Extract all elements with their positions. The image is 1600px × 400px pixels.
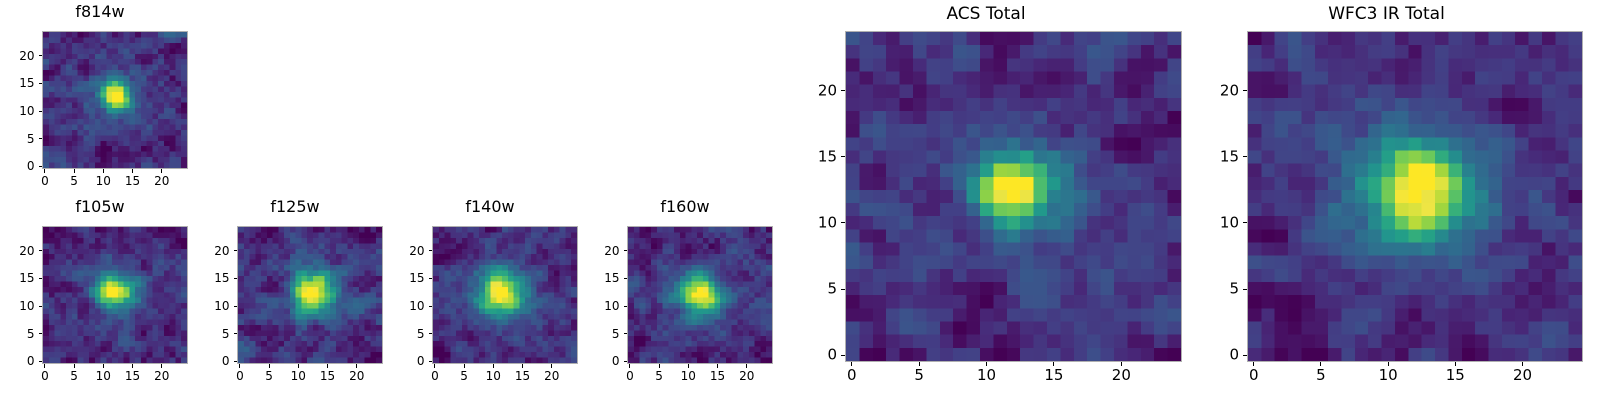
ytick-f105w-15 (39, 278, 43, 279)
ytick-f814w-15 (39, 83, 43, 84)
ytick-label-f814w-10: 10 (0, 105, 35, 117)
xtick-label-wfc3_ir_total-20: 20 (1513, 368, 1532, 383)
heatmap-f814w[interactable] (42, 31, 188, 169)
xtick-label-f160w-20: 20 (739, 370, 754, 382)
xtick-f140w-10 (493, 364, 494, 368)
heatmap-canvas-acs_total (846, 32, 1181, 361)
ytick-f125w-5 (234, 333, 238, 334)
xtick-f160w-15 (717, 364, 718, 368)
xtick-label-f105w-15: 15 (125, 370, 140, 382)
panel-f105w: f105w 0055101015152020 (0, 195, 200, 380)
ytick-label-f125w-5: 5 (190, 328, 230, 340)
panel-title-f160w: f160w (585, 199, 785, 215)
xtick-f105w-15 (132, 364, 133, 368)
ytick-f105w-20 (39, 250, 43, 251)
ytick-label-f160w-5: 5 (580, 328, 620, 340)
xtick-label-wfc3_ir_total-5: 5 (1316, 368, 1326, 383)
xtick-label-f814w-0: 0 (41, 175, 49, 187)
heatmap-canvas-f814w (43, 32, 187, 168)
xtick-f814w-20 (161, 169, 162, 173)
ytick-label-f105w-5: 5 (0, 328, 35, 340)
ytick-label-acs_total-5: 5 (797, 282, 837, 297)
ytick-f160w-5 (624, 333, 628, 334)
heatmap-canvas-f105w (43, 227, 187, 363)
xtick-f105w-0 (44, 364, 45, 368)
ytick-acs_total-0 (841, 355, 845, 356)
xtick-f105w-20 (161, 364, 162, 368)
panel-title-f125w: f125w (195, 199, 395, 215)
ytick-wfc3_ir_total-0 (1243, 355, 1247, 356)
heatmap-wfc3-ir-total[interactable] (1247, 31, 1583, 362)
heatmap-f105w[interactable] (42, 226, 188, 364)
xtick-label-f140w-20: 20 (544, 370, 559, 382)
xtick-f125w-5 (269, 364, 270, 368)
ytick-f125w-10 (234, 306, 238, 307)
heatmap-f125w[interactable] (237, 226, 383, 364)
xtick-label-f105w-0: 0 (41, 370, 49, 382)
heatmap-canvas-wfc3_ir_total (1248, 32, 1582, 361)
xtick-label-acs_total-10: 10 (977, 368, 996, 383)
xtick-label-f125w-20: 20 (349, 370, 364, 382)
xtick-label-f140w-5: 5 (460, 370, 468, 382)
heatmap-canvas-f125w (238, 227, 382, 363)
ytick-f140w-20 (429, 250, 433, 251)
xtick-label-f125w-0: 0 (236, 370, 244, 382)
ytick-f105w-0 (39, 361, 43, 362)
xtick-f160w-5 (659, 364, 660, 368)
ytick-wfc3_ir_total-20 (1243, 90, 1247, 91)
xtick-label-acs_total-0: 0 (847, 368, 857, 383)
ytick-f160w-20 (624, 250, 628, 251)
xtick-f125w-15 (327, 364, 328, 368)
ytick-label-acs_total-10: 10 (797, 215, 837, 230)
xtick-label-f105w-10: 10 (96, 370, 111, 382)
ytick-label-wfc3_ir_total-15: 15 (1199, 149, 1239, 164)
ytick-f125w-15 (234, 278, 238, 279)
ytick-label-f125w-20: 20 (190, 245, 230, 257)
ytick-acs_total-5 (841, 289, 845, 290)
panel-title-wfc3-ir-total: WFC3 IR Total (1190, 6, 1583, 23)
ytick-label-wfc3_ir_total-5: 5 (1199, 282, 1239, 297)
xtick-label-f140w-0: 0 (431, 370, 439, 382)
ytick-label-f814w-0: 0 (0, 160, 35, 172)
panel-title-acs-total: ACS Total (790, 6, 1182, 23)
xtick-label-acs_total-5: 5 (914, 368, 924, 383)
ytick-label-wfc3_ir_total-0: 0 (1199, 348, 1239, 363)
xtick-label-f105w-5: 5 (70, 370, 78, 382)
ytick-wfc3_ir_total-15 (1243, 156, 1247, 157)
ytick-label-f160w-20: 20 (580, 245, 620, 257)
ytick-f105w-5 (39, 333, 43, 334)
xtick-f125w-10 (298, 364, 299, 368)
ytick-label-f160w-15: 15 (580, 272, 620, 284)
ytick-wfc3_ir_total-5 (1243, 289, 1247, 290)
ytick-label-f140w-15: 15 (385, 272, 425, 284)
ytick-label-acs_total-0: 0 (797, 348, 837, 363)
ytick-acs_total-20 (841, 90, 845, 91)
xtick-f105w-10 (103, 364, 104, 368)
xtick-label-f140w-10: 10 (486, 370, 501, 382)
heatmap-f160w[interactable] (627, 226, 773, 364)
xtick-f125w-20 (356, 364, 357, 368)
ytick-label-f814w-5: 5 (0, 133, 35, 145)
ytick-label-f160w-10: 10 (580, 300, 620, 312)
ytick-label-wfc3_ir_total-20: 20 (1199, 83, 1239, 98)
xtick-label-acs_total-15: 15 (1044, 368, 1063, 383)
ytick-label-f814w-15: 15 (0, 77, 35, 89)
xtick-f160w-0 (629, 364, 630, 368)
xtick-f140w-20 (551, 364, 552, 368)
ytick-f814w-20 (39, 55, 43, 56)
ytick-f160w-15 (624, 278, 628, 279)
ytick-f140w-15 (429, 278, 433, 279)
xtick-label-f140w-15: 15 (515, 370, 530, 382)
xtick-f140w-0 (434, 364, 435, 368)
xtick-f814w-0 (44, 169, 45, 173)
xtick-label-f125w-15: 15 (320, 370, 335, 382)
ytick-label-acs_total-15: 15 (797, 149, 837, 164)
panel-f814w: f814w 0055101015152020 (0, 0, 200, 185)
ytick-f160w-10 (624, 306, 628, 307)
xtick-label-f160w-15: 15 (710, 370, 725, 382)
panel-wfc3-ir-total: WFC3 IR Total 0055101015152020 (1190, 0, 1600, 400)
ytick-f814w-0 (39, 166, 43, 167)
xtick-f140w-5 (464, 364, 465, 368)
ytick-label-f105w-10: 10 (0, 300, 35, 312)
xtick-label-f814w-5: 5 (70, 175, 78, 187)
ytick-label-f125w-0: 0 (190, 355, 230, 367)
xtick-label-f125w-5: 5 (265, 370, 273, 382)
ytick-label-f140w-10: 10 (385, 300, 425, 312)
ytick-label-f814w-20: 20 (0, 50, 35, 62)
xtick-f160w-20 (746, 364, 747, 368)
ytick-label-f140w-20: 20 (385, 245, 425, 257)
xtick-label-wfc3_ir_total-0: 0 (1249, 368, 1259, 383)
xtick-f814w-10 (103, 169, 104, 173)
ytick-f140w-5 (429, 333, 433, 334)
panel-f160w: f160w 0055101015152020 (585, 195, 785, 380)
ytick-acs_total-15 (841, 156, 845, 157)
ytick-label-f105w-15: 15 (0, 272, 35, 284)
heatmap-canvas-f140w (433, 227, 577, 363)
ytick-label-f125w-15: 15 (190, 272, 230, 284)
xtick-f140w-15 (522, 364, 523, 368)
ytick-wfc3_ir_total-10 (1243, 222, 1247, 223)
panel-title-f140w: f140w (390, 199, 590, 215)
panel-f125w: f125w 0055101015152020 (195, 195, 395, 380)
ytick-label-f140w-5: 5 (385, 328, 425, 340)
xtick-label-wfc3_ir_total-10: 10 (1379, 368, 1398, 383)
ytick-label-f125w-10: 10 (190, 300, 230, 312)
xtick-f814w-15 (132, 169, 133, 173)
ytick-f814w-5 (39, 138, 43, 139)
panel-acs-total: ACS Total 0055101015152020 (790, 0, 1190, 400)
xtick-label-f160w-5: 5 (655, 370, 663, 382)
ytick-label-f105w-0: 0 (0, 355, 35, 367)
xtick-label-f125w-10: 10 (291, 370, 306, 382)
xtick-label-f105w-20: 20 (154, 370, 169, 382)
heatmap-f140w[interactable] (432, 226, 578, 364)
ytick-f814w-10 (39, 111, 43, 112)
xtick-label-acs_total-20: 20 (1112, 368, 1131, 383)
xtick-f160w-10 (688, 364, 689, 368)
ytick-acs_total-10 (841, 222, 845, 223)
xtick-label-f814w-20: 20 (154, 175, 169, 187)
panel-title-f105w: f105w (0, 199, 200, 215)
xtick-f814w-5 (74, 169, 75, 173)
xtick-f105w-5 (74, 364, 75, 368)
heatmap-canvas-f160w (628, 227, 772, 363)
xtick-label-f814w-15: 15 (125, 175, 140, 187)
ytick-label-f160w-0: 0 (580, 355, 620, 367)
ytick-f125w-0 (234, 361, 238, 362)
ytick-label-wfc3_ir_total-10: 10 (1199, 215, 1239, 230)
ytick-f140w-10 (429, 306, 433, 307)
heatmap-acs-total[interactable] (845, 31, 1182, 362)
panel-title-f814w: f814w (0, 4, 200, 20)
ytick-f105w-10 (39, 306, 43, 307)
ytick-f125w-20 (234, 250, 238, 251)
ytick-label-acs_total-20: 20 (797, 83, 837, 98)
ytick-label-f140w-0: 0 (385, 355, 425, 367)
ytick-label-f105w-20: 20 (0, 245, 35, 257)
xtick-label-wfc3_ir_total-15: 15 (1446, 368, 1465, 383)
xtick-label-f160w-0: 0 (626, 370, 634, 382)
xtick-f125w-0 (239, 364, 240, 368)
xtick-label-f814w-10: 10 (96, 175, 111, 187)
panel-f140w: f140w 0055101015152020 (390, 195, 590, 380)
xtick-label-f160w-10: 10 (681, 370, 696, 382)
ytick-f160w-0 (624, 361, 628, 362)
ytick-f140w-0 (429, 361, 433, 362)
